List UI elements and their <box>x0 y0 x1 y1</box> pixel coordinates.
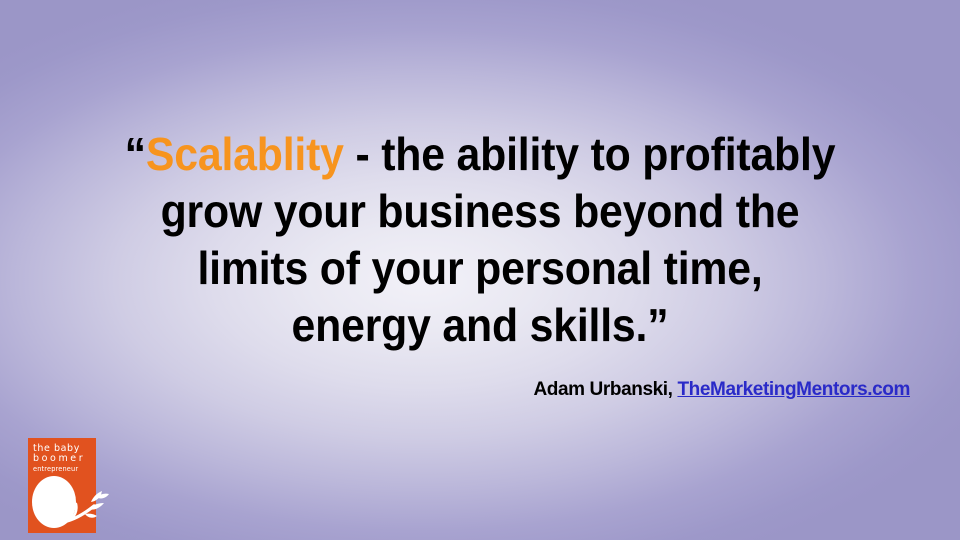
attribution: Adam Urbanski, TheMarketingMentors.com <box>50 378 910 402</box>
attribution-website-link[interactable]: TheMarketingMentors.com <box>677 379 910 400</box>
quote-keyword: Scalablity <box>146 128 344 180</box>
quote-line-4: energy and skills.” <box>80 297 880 354</box>
open-quote-mark: “ <box>125 128 146 180</box>
quote-block: “Scalablity - the ability to profitably … <box>50 126 910 354</box>
quote-line-2: grow your business beyond the <box>80 183 880 240</box>
quote-line-1-text: - the ability to profitably <box>344 128 836 180</box>
quote-line-3: limits of your personal time, <box>80 240 880 297</box>
logo-egg-sprout-icon <box>22 430 118 534</box>
attribution-author: Adam Urbanski, <box>533 379 672 400</box>
quote-line-1: “Scalablity - the ability to profitably <box>80 126 880 183</box>
logo[interactable]: the baby boomer entrepreneur <box>22 430 118 534</box>
slide-canvas: “Scalablity - the ability to profitably … <box>0 0 960 540</box>
